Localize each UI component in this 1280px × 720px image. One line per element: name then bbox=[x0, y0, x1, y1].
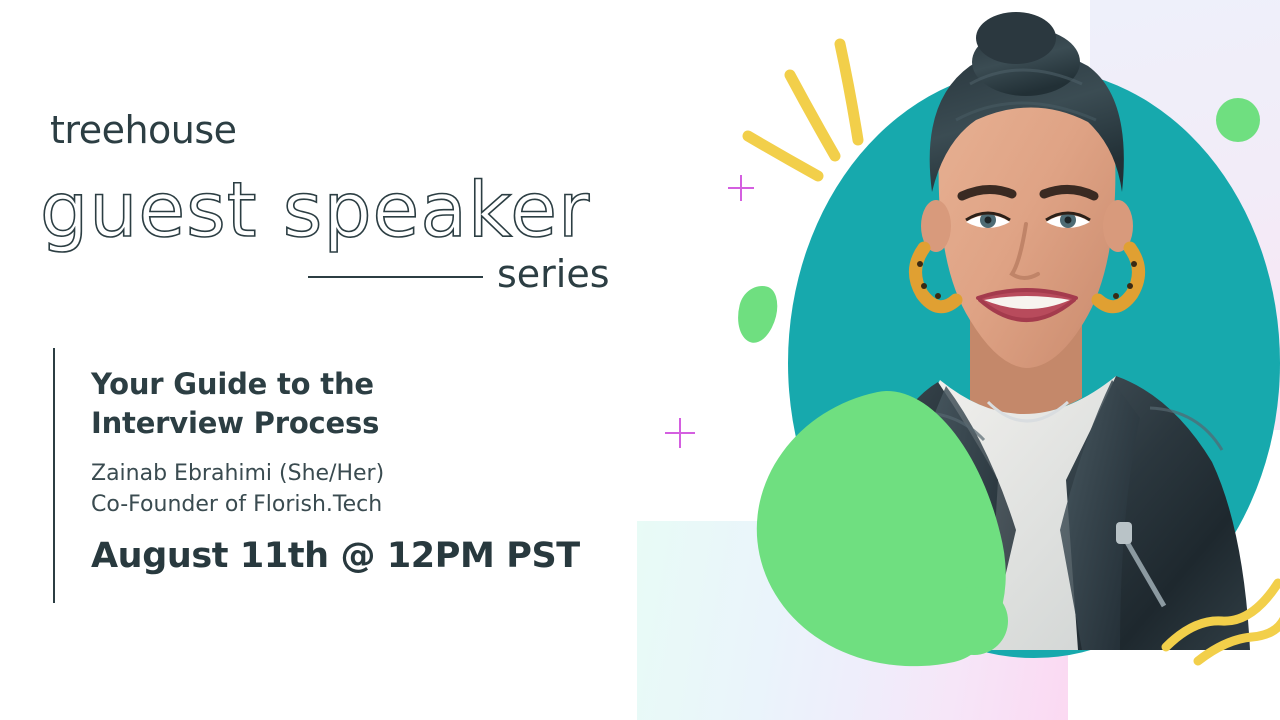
brand-wordmark: treehouse bbox=[50, 108, 237, 152]
speaker-info: Zainab Ebrahimi (She/Her) Co-Founder of … bbox=[91, 458, 631, 520]
promo-graphic: treehouse guest speaker series Your Guid… bbox=[0, 0, 1280, 720]
event-details: Your Guide to the Interview Process Zain… bbox=[91, 365, 631, 576]
series-row: series bbox=[308, 252, 628, 300]
green-circle-shape-bottom bbox=[940, 587, 1008, 655]
page-title: guest speaker bbox=[40, 165, 590, 254]
talk-title-line-1: Your Guide to the bbox=[91, 365, 631, 404]
series-divider bbox=[308, 276, 483, 278]
speaker-name: Zainab Ebrahimi (She/Her) bbox=[91, 458, 631, 489]
event-datetime: August 11th @ 12PM PST bbox=[91, 536, 631, 576]
yellow-squiggle-icon bbox=[1160, 575, 1280, 685]
series-label: series bbox=[497, 252, 610, 296]
speaker-role: Co-Founder of Florish.Tech bbox=[91, 489, 631, 520]
green-blob-small-shape bbox=[732, 281, 783, 346]
talk-title-line-2: Interview Process bbox=[91, 404, 631, 443]
vertical-accent-rule bbox=[53, 348, 55, 603]
plus-mark-icon bbox=[728, 175, 754, 201]
talk-title: Your Guide to the Interview Process bbox=[91, 365, 631, 442]
plus-mark-icon bbox=[665, 418, 695, 448]
